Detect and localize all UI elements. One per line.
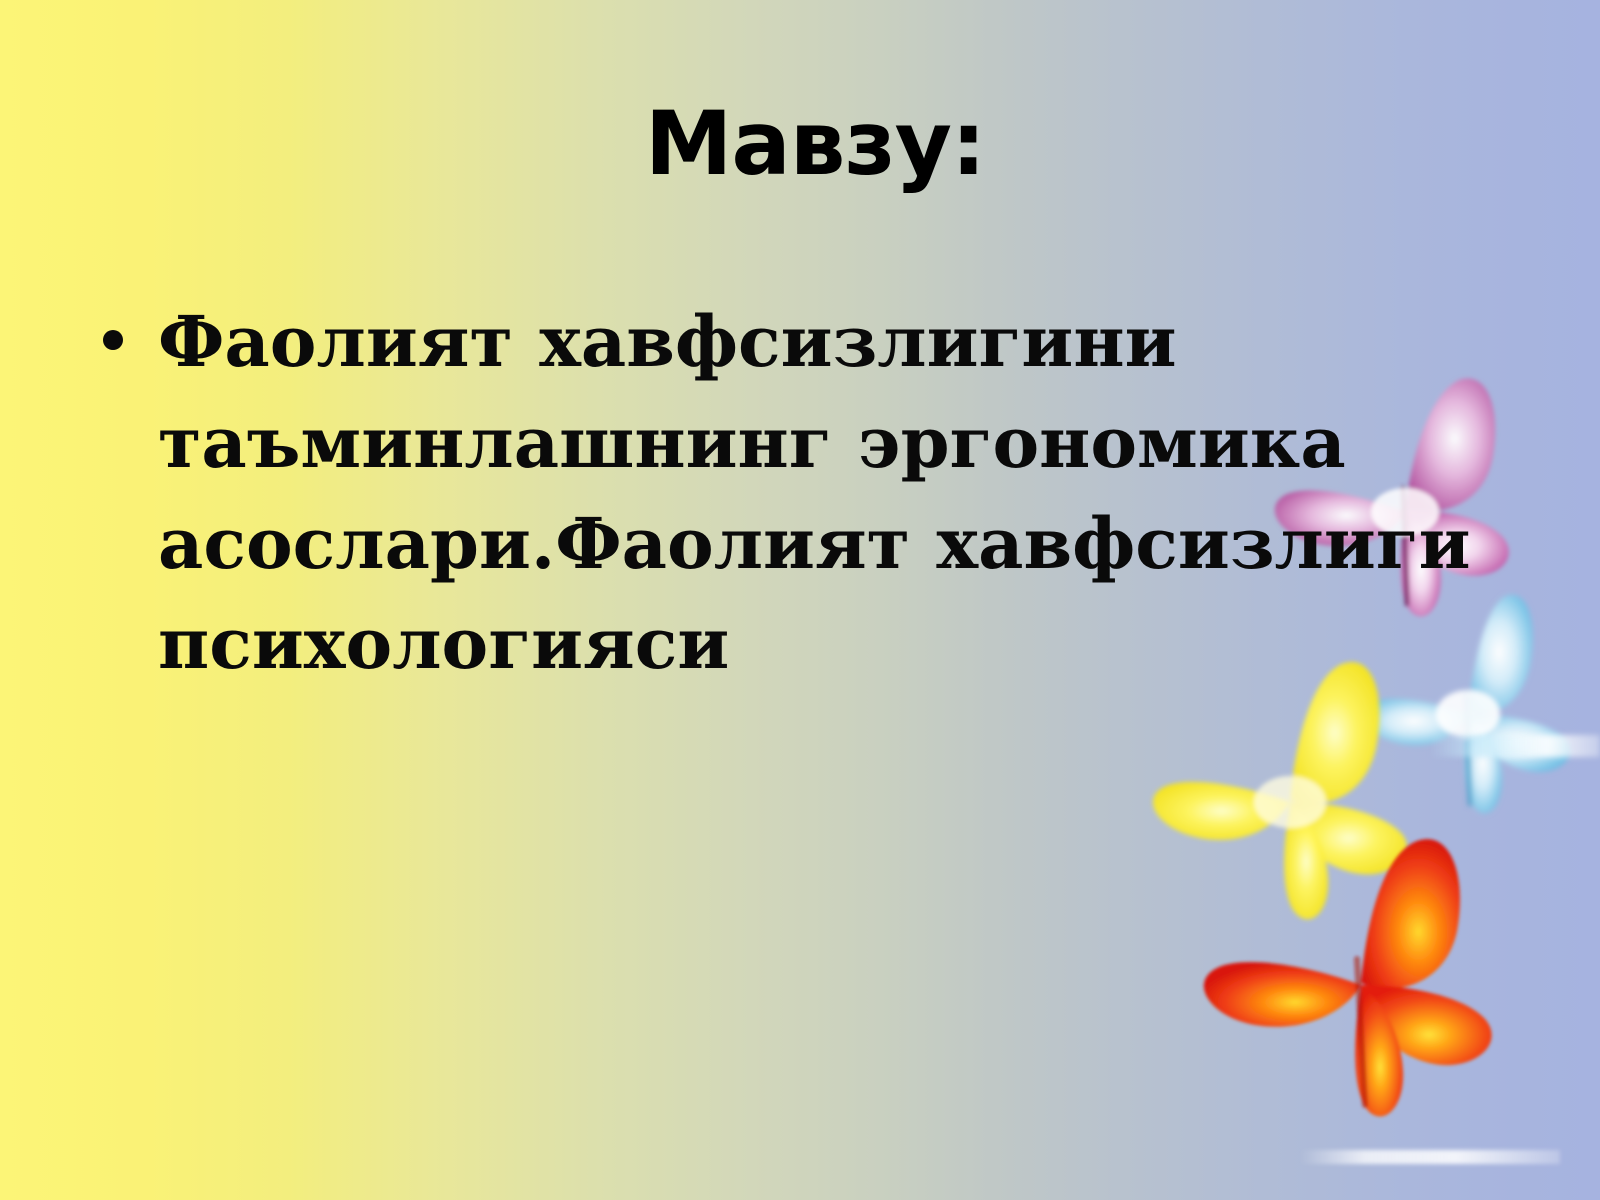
- light-streak-upper: [1430, 735, 1600, 757]
- bullet-dot-icon: [103, 330, 123, 350]
- bullet-text: Фаолият хавфсизлигини таъминлашнинг эрго…: [158, 300, 1471, 685]
- presentation-slide: Мавзу: Фаолият хавфсизлигини таъминлашни…: [0, 0, 1600, 1200]
- slide-bullet-list: Фаолият хавфсизлигини таъминлашнинг эрго…: [96, 292, 1516, 695]
- slide-title: Мавзу:: [0, 98, 1600, 190]
- light-streak-lower: [1300, 1150, 1560, 1164]
- butterfly-red-icon: [1175, 825, 1545, 1135]
- list-item: Фаолият хавфсизлигини таъминлашнинг эрго…: [96, 292, 1516, 695]
